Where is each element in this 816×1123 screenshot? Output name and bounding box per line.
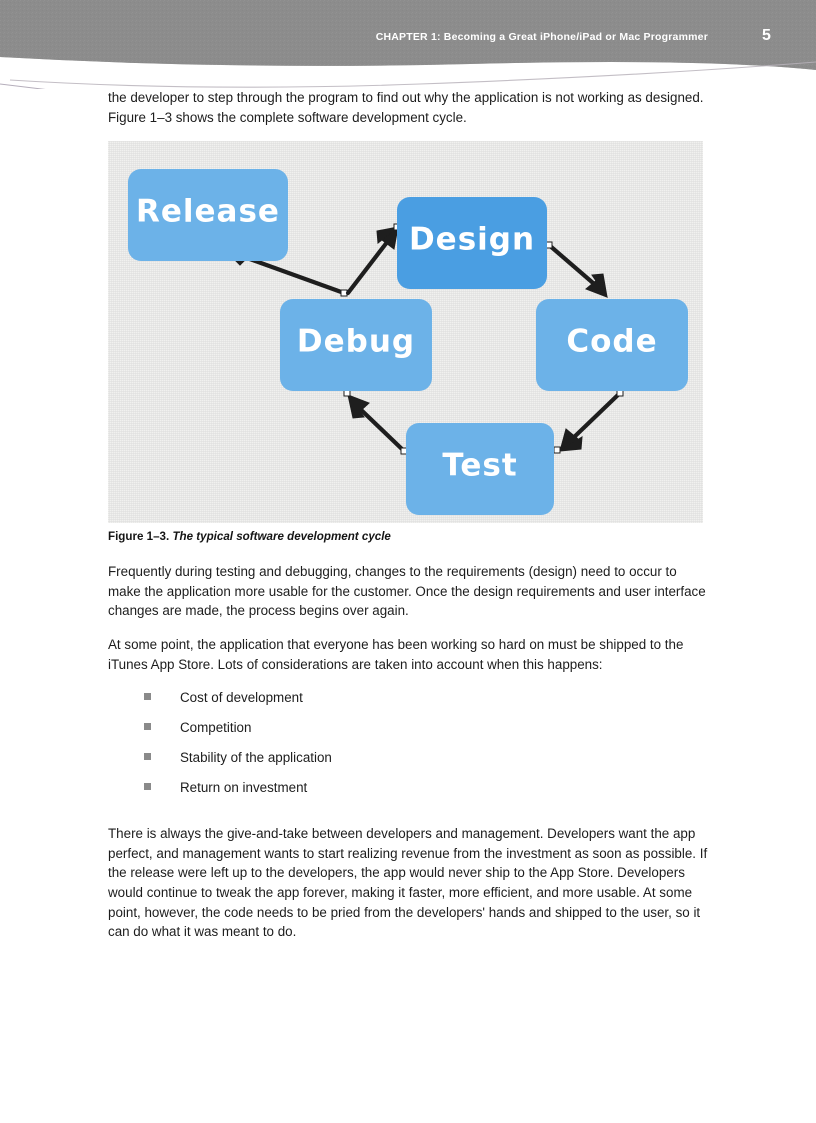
- paragraph-intro: the developer to step through the progra…: [108, 88, 708, 127]
- node-test-label: Test: [442, 448, 517, 484]
- bullet-square-icon: [144, 723, 151, 730]
- node-test[interactable]: Test: [406, 423, 554, 515]
- bullet-square-icon: [144, 783, 151, 790]
- paragraph-give-and-take: There is always the give-and-take betwee…: [108, 824, 708, 942]
- header-page-number: 5: [762, 27, 771, 45]
- node-release-label: Release: [136, 194, 280, 230]
- software-development-cycle-diagram: Release Design Code Test Debug: [108, 141, 703, 523]
- considerations-list: Cost of development Competition Stabilit…: [108, 688, 708, 808]
- running-header: CHAPTER 1: Becoming a Great iPhone/iPad …: [0, 0, 816, 92]
- header-chapter-title: CHAPTER 1: Becoming a Great iPhone/iPad …: [376, 31, 708, 43]
- list-item-label: Cost of development: [180, 690, 303, 705]
- list-item-label: Competition: [180, 720, 251, 735]
- node-design[interactable]: Design: [397, 197, 547, 289]
- list-item: Return on investment: [144, 778, 708, 808]
- list-item: Competition: [144, 718, 708, 748]
- list-item: Cost of development: [144, 688, 708, 718]
- node-debug-label: Debug: [297, 324, 415, 360]
- edge-debug-to-design: [348, 224, 400, 293]
- paragraph-app-store: At some point, the application that ever…: [108, 635, 708, 674]
- bullet-square-icon: [144, 693, 151, 700]
- header-band-shape: [0, 0, 816, 92]
- edge-design-to-code: [546, 242, 607, 297]
- edge-code-to-test: [554, 390, 623, 453]
- node-debug[interactable]: Debug: [280, 299, 432, 391]
- header-hairline-decoration: [0, 79, 58, 89]
- figure-caption-text: The typical software development cycle: [172, 530, 390, 543]
- node-release[interactable]: Release: [128, 169, 288, 261]
- list-item: Stability of the application: [144, 748, 708, 778]
- figure-caption: Figure 1–3. The typical software develop…: [108, 529, 708, 544]
- paragraph-testing-debugging: Frequently during testing and debugging,…: [108, 562, 708, 621]
- list-item-label: Stability of the application: [180, 750, 332, 765]
- figure-1-3: Release Design Code Test Debug: [108, 141, 703, 523]
- edge-test-to-debug: [344, 390, 407, 454]
- node-design-label: Design: [409, 222, 535, 258]
- diagram-nodes: Release Design Code Test Debug: [128, 169, 688, 515]
- figure-caption-label: Figure 1–3.: [108, 530, 169, 543]
- page-content: the developer to step through the progra…: [108, 88, 708, 956]
- node-code[interactable]: Code: [536, 299, 688, 391]
- bullet-square-icon: [144, 753, 151, 760]
- node-code-label: Code: [566, 324, 657, 360]
- list-item-label: Return on investment: [180, 780, 307, 795]
